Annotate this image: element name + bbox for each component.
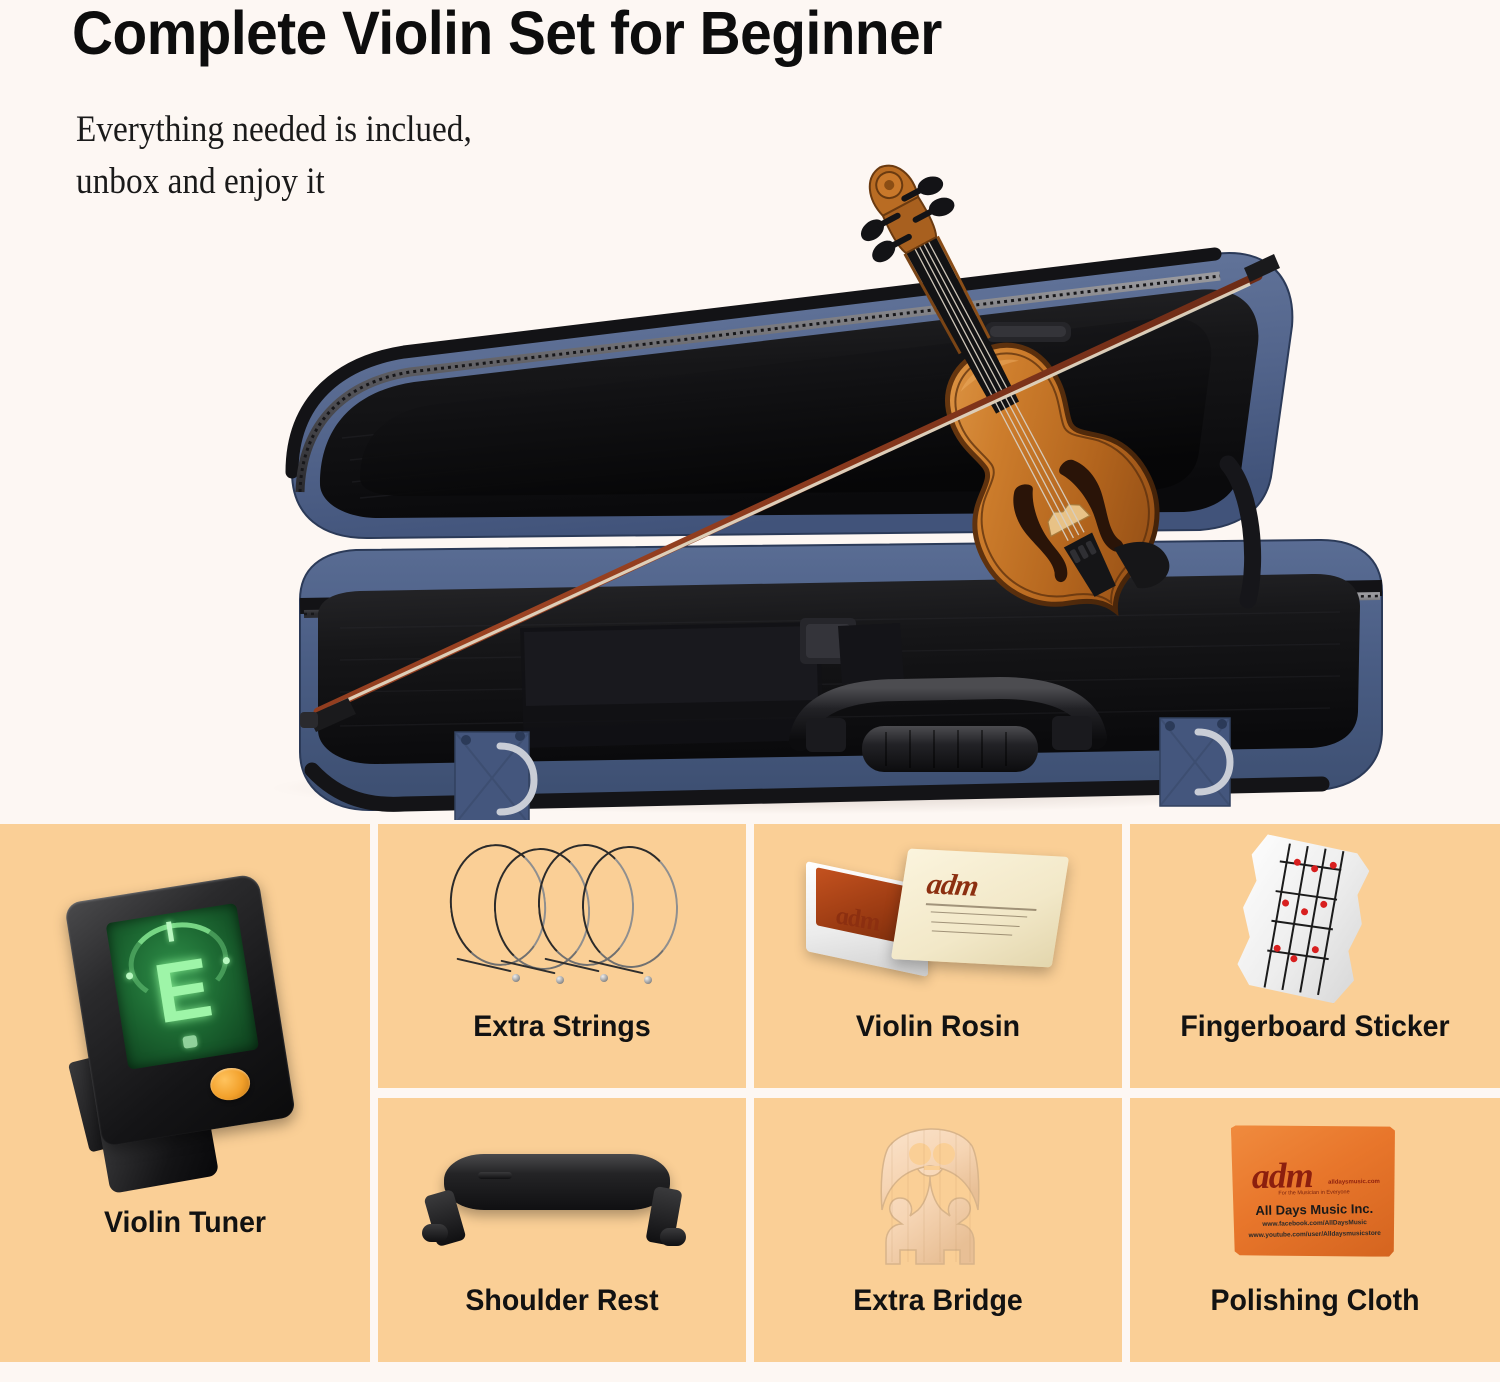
panel-label-shoulder-rest: Shoulder Rest <box>387 1284 737 1318</box>
panel-label-violin-rosin: Violin Rosin <box>763 1010 1113 1044</box>
panel-extra-strings[interactable]: Extra Strings <box>378 824 746 1088</box>
violin-bridge-icon <box>868 1114 1008 1274</box>
tuner-power-button[interactable] <box>208 1065 253 1103</box>
clip-on-tuner-icon: E <box>60 879 310 1199</box>
panel-polishing-cloth[interactable]: adm alldaysmusic.com For the Musician in… <box>1130 1098 1500 1362</box>
shoulder-rest-icon <box>422 1146 708 1266</box>
panel-label-extra-strings: Extra Strings <box>387 1010 737 1044</box>
accessories-grid: E Violin Tuner Extra Strings <box>0 824 1500 1364</box>
panel-violin-tuner[interactable]: E Violin Tuner <box>0 824 370 1362</box>
panel-label-extra-bridge: Extra Bridge <box>763 1284 1113 1318</box>
violin-case-illustration <box>0 40 1500 820</box>
violin-strings-icon <box>446 836 686 986</box>
fingerboard-sticker-icon <box>1242 840 1392 1000</box>
panel-label-violin-tuner: Violin Tuner <box>9 1206 361 1240</box>
cloth-facebook-url: www.facebook.com/AllDaysMusic <box>1233 1219 1397 1229</box>
panel-label-polishing-cloth: Polishing Cloth <box>1139 1284 1491 1318</box>
hero-violin-case-photo <box>0 40 1500 820</box>
panel-fingerboard-sticker[interactable]: Fingerboard Sticker <box>1130 824 1500 1088</box>
panel-extra-bridge[interactable]: Extra Bridge <box>754 1098 1122 1362</box>
cloth-youtube-url: www.youtube.com/user/Alldaysmusicstore <box>1233 1230 1397 1240</box>
panel-label-fingerboard-sticker: Fingerboard Sticker <box>1139 1010 1491 1044</box>
panel-violin-rosin[interactable]: adm adm Violin Rosin <box>754 824 1122 1088</box>
polishing-cloth-icon: adm alldaysmusic.com For the Musician in… <box>1228 1120 1408 1272</box>
violin-rosin-icon: adm adm <box>802 846 1082 996</box>
panel-shoulder-rest[interactable]: Shoulder Rest <box>378 1098 746 1362</box>
rosin-lid-brand: adm <box>924 868 980 904</box>
cloth-company: All Days Music Inc. <box>1232 1201 1396 1219</box>
